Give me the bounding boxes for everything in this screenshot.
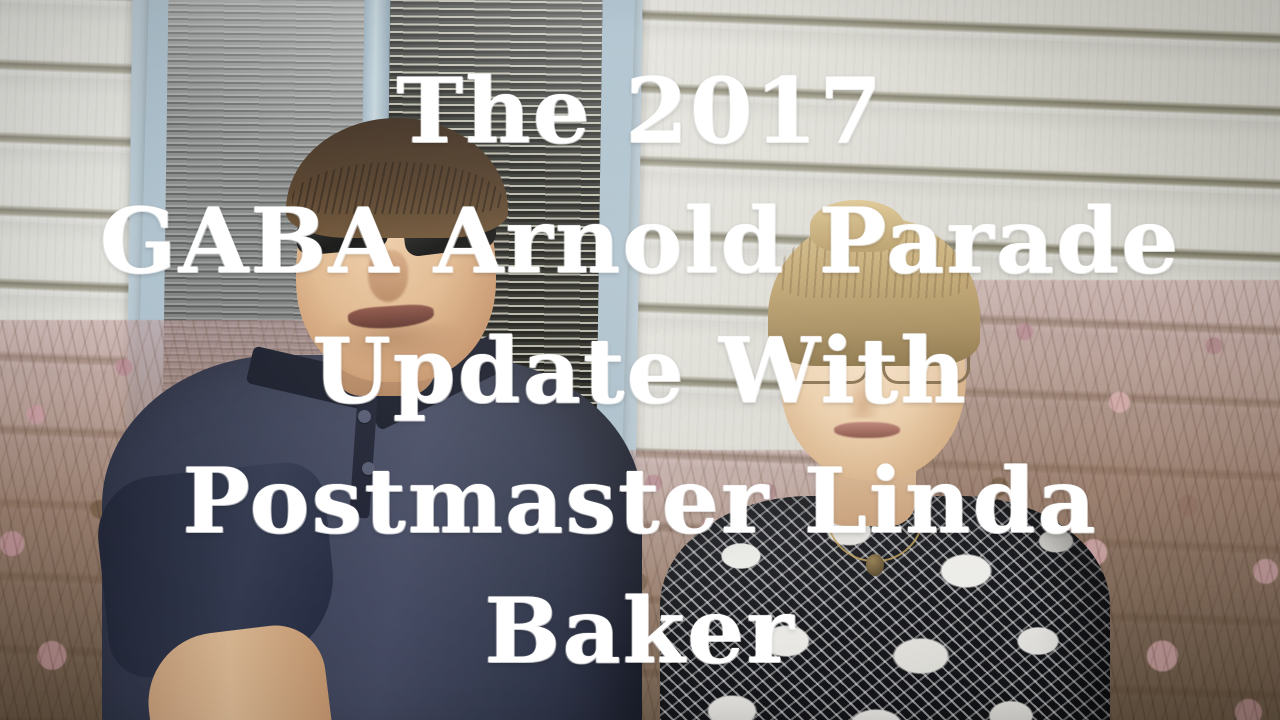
- woman-mouth: [834, 422, 900, 438]
- man-chin-shadow: [326, 324, 464, 370]
- video-frame: The 2017 GABA Arnold Parade Update With …: [0, 0, 1280, 720]
- man-shirt-button: [358, 410, 371, 423]
- man-shirt-button: [362, 462, 375, 475]
- person-man: [96, 110, 656, 720]
- man-nose: [368, 250, 408, 302]
- woman-pendant: [866, 554, 884, 576]
- woman-hair-bun: [810, 200, 904, 252]
- man-hair: [286, 118, 508, 238]
- person-woman: [650, 196, 1120, 720]
